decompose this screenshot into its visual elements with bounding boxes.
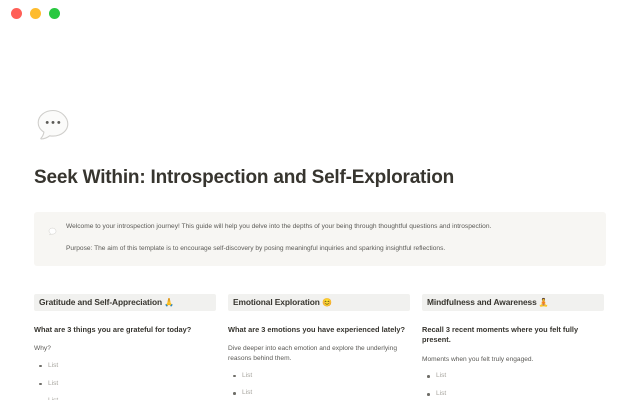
bullet-list-mindfulness: List List List [422, 372, 604, 400]
column-gratitude: Gratitude and Self-Appreciation 🙏 What a… [34, 292, 216, 400]
list-item[interactable]: List [34, 362, 216, 371]
subtext-emotional-exploration: Dive deeper into each emotion and explor… [228, 344, 410, 363]
bullet-list-gratitude: List List List [34, 362, 216, 400]
subtext-mindfulness: Moments when you felt truly engaged. [422, 355, 604, 365]
callout-line-welcome: Welcome to your introspection journey! T… [66, 222, 592, 232]
person-meditating-icon: 🧘 [539, 298, 549, 307]
question-gratitude: What are 3 things you are grateful for t… [34, 325, 216, 336]
callout-speech-balloon-icon [48, 223, 57, 241]
close-window-button[interactable] [11, 8, 22, 19]
intro-callout: Welcome to your introspection journey! T… [34, 212, 606, 266]
document-page: Seek Within: Introspection and Self-Expl… [0, 106, 640, 400]
app-window: Seek Within: Introspection and Self-Expl… [0, 0, 640, 400]
list-item[interactable]: List [34, 380, 216, 389]
list-item[interactable]: List [422, 390, 604, 399]
column-emotional-exploration: Emotional Exploration 😊 What are 3 emoti… [228, 292, 410, 400]
minimize-window-button[interactable] [30, 8, 41, 19]
column-heading-mindfulness-label: Mindfulness and Awareness [427, 297, 537, 307]
question-mindfulness: Recall 3 recent moments where you felt f… [422, 325, 604, 346]
window-titlebar [0, 0, 640, 26]
bullet-list-emotional-exploration: List List List [228, 372, 410, 400]
column-heading-emotional-exploration: Emotional Exploration 😊 [228, 294, 410, 311]
column-heading-gratitude: Gratitude and Self-Appreciation 🙏 [34, 294, 216, 311]
traffic-light-controls [11, 8, 60, 19]
folded-hands-icon: 🙏 [164, 298, 174, 307]
smiling-face-icon: 😊 [322, 298, 332, 307]
three-column-layout: Gratitude and Self-Appreciation 🙏 What a… [34, 292, 606, 400]
list-item[interactable]: List [422, 372, 604, 381]
question-emotional-exploration: What are 3 emotions you have experienced… [228, 325, 410, 336]
column-heading-mindfulness: Mindfulness and Awareness 🧘 [422, 294, 604, 311]
list-item[interactable]: List [228, 372, 410, 381]
zoom-window-button[interactable] [49, 8, 60, 19]
speech-balloon-icon[interactable] [34, 106, 72, 144]
callout-line-purpose: Purpose: The aim of this template is to … [66, 244, 592, 254]
list-item[interactable]: List [228, 389, 410, 398]
callout-text-body: Welcome to your introspection journey! T… [66, 222, 592, 254]
column-heading-emotional-exploration-label: Emotional Exploration [233, 297, 320, 307]
column-heading-gratitude-label: Gratitude and Self-Appreciation [39, 297, 162, 307]
page-title: Seek Within: Introspection and Self-Expl… [34, 167, 606, 190]
subtext-gratitude: Why? [34, 344, 216, 354]
column-mindfulness: Mindfulness and Awareness 🧘 Recall 3 rec… [422, 292, 604, 400]
